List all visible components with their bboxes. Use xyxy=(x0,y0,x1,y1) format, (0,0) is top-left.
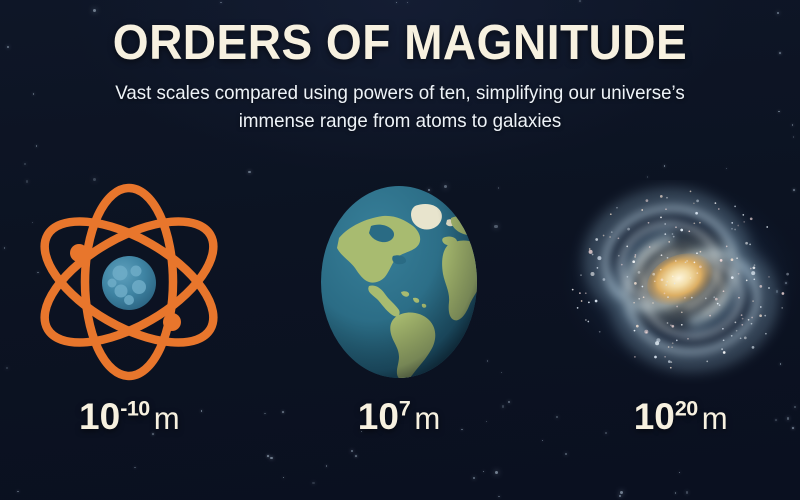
galaxy-star-icon xyxy=(688,230,690,232)
galaxy-star-icon xyxy=(579,292,581,294)
galaxy-star-icon xyxy=(588,250,592,254)
galaxy-star-icon xyxy=(693,262,695,264)
galaxy-star-icon xyxy=(634,282,637,285)
star-icon xyxy=(619,495,621,497)
header: ORDERS OF MAGNITUDE Vast scales compared… xyxy=(0,0,800,135)
galaxy-star-icon xyxy=(749,244,751,246)
atom-nucleus xyxy=(102,256,156,310)
galaxy-star-icon xyxy=(626,276,628,278)
galaxy-star-icon xyxy=(699,251,701,253)
galaxy-star-icon xyxy=(652,302,654,304)
galaxy-star-icon xyxy=(750,323,752,325)
galaxy-star-icon xyxy=(734,322,736,324)
galaxy-star-icon xyxy=(759,285,762,288)
star-icon xyxy=(675,492,677,494)
galaxy-star-icon xyxy=(765,333,767,335)
galaxy-star-icon xyxy=(689,191,691,193)
galaxy-star-icon xyxy=(666,197,668,199)
label-exponent: -10 xyxy=(120,397,150,421)
galaxy-star-icon xyxy=(664,223,666,225)
galaxy-star-icon xyxy=(713,296,715,298)
galaxy-star-icon xyxy=(689,277,691,279)
star-icon xyxy=(17,491,19,493)
galaxy-star-icon xyxy=(632,260,635,263)
galaxy-star-icon xyxy=(670,367,672,369)
galaxy-star-icon xyxy=(705,298,707,300)
galaxy-star-icon xyxy=(670,324,672,326)
galaxy-star-icon xyxy=(633,330,635,332)
galaxy-star-icon xyxy=(759,314,762,317)
label-unit: m xyxy=(154,401,180,436)
galaxy-star-icon xyxy=(599,331,601,333)
scale-item-atom: 10-10m xyxy=(0,178,263,478)
galaxy-star-icon xyxy=(602,278,605,281)
galaxy-star-icon xyxy=(652,273,655,276)
galaxy-star-icon xyxy=(668,360,671,363)
galaxy-star-icon xyxy=(741,324,743,326)
galaxy-star-icon xyxy=(752,266,755,269)
galaxy-star-icon xyxy=(722,290,724,292)
galaxy-star-icon xyxy=(684,261,686,263)
galaxy-star-icon xyxy=(572,289,574,291)
galaxy-star-icon xyxy=(726,246,728,248)
scale-item-earth: 107m xyxy=(266,178,533,478)
galaxy-star-icon xyxy=(663,293,665,295)
label-exponent: 20 xyxy=(675,397,698,421)
galaxy-star-icon xyxy=(641,209,643,211)
galaxy-art-container xyxy=(556,178,800,386)
galaxy-star-icon xyxy=(618,255,620,257)
galaxy-star-icon xyxy=(672,275,674,277)
galaxy-star-icon xyxy=(673,283,675,285)
galaxy-star-icon xyxy=(746,280,748,282)
star-icon xyxy=(726,168,728,170)
galaxy-star-icon xyxy=(588,302,590,304)
galaxy-star-icon xyxy=(735,330,737,332)
label-unit: m xyxy=(702,401,728,436)
galaxy-star-icon xyxy=(696,272,698,274)
galaxy-star-icon xyxy=(665,208,667,210)
galaxy-star-icon xyxy=(738,297,740,299)
galaxy-star-icon xyxy=(731,335,733,337)
galaxy-star-icon xyxy=(751,346,754,349)
galaxy-star-icon xyxy=(642,296,644,298)
galaxy-star-icon xyxy=(671,346,673,348)
infographic-canvas: ORDERS OF MAGNITUDE Vast scales compared… xyxy=(0,0,800,500)
star-icon xyxy=(498,496,500,498)
galaxy-star-icon xyxy=(585,319,587,321)
galaxy-star-icon xyxy=(696,252,698,254)
galaxy-star-icon xyxy=(695,212,698,215)
galaxy-star-icon xyxy=(781,292,784,295)
scale-label-galaxy: 1020m xyxy=(634,398,728,435)
galaxy-star-icon xyxy=(668,241,670,243)
star-icon xyxy=(248,171,250,173)
galaxy-star-icon xyxy=(745,242,748,245)
galaxy-star-icon xyxy=(580,274,582,276)
galaxy-star-icon xyxy=(744,337,747,340)
galaxy-star-icon xyxy=(751,317,753,319)
galaxy-star-icon xyxy=(638,298,640,300)
galaxy-star-icon xyxy=(654,356,657,359)
galaxy-star-icon xyxy=(660,217,662,219)
star-icon xyxy=(793,136,795,138)
label-unit: m xyxy=(414,401,440,436)
galaxy-star-icon xyxy=(741,318,743,320)
galaxy-star-icon xyxy=(750,268,752,270)
galaxy-star-icon xyxy=(764,315,766,317)
galaxy-star-icon xyxy=(752,300,754,302)
galaxy-star-icon xyxy=(736,257,738,259)
galaxy-star-icon xyxy=(719,259,722,262)
galaxy-star-icon xyxy=(594,300,597,303)
galaxy-star-icon xyxy=(664,356,666,358)
galaxy-star-icon xyxy=(676,340,678,342)
label-exponent: 7 xyxy=(399,397,410,421)
galaxy-star-icon xyxy=(722,328,724,330)
galaxy-star-icon xyxy=(626,246,628,248)
label-base: 10 xyxy=(358,396,399,437)
galaxy-star-icon xyxy=(597,256,601,260)
galaxy-star-icon xyxy=(768,287,770,289)
galaxy-star-icon xyxy=(723,351,726,354)
galaxy-star-icon xyxy=(634,254,636,256)
galaxy-star-icon xyxy=(718,304,720,306)
atom-illustration xyxy=(26,179,232,385)
galaxy-star-icon xyxy=(636,325,639,328)
galaxy-star-icon xyxy=(722,339,724,341)
galaxy-star-icon xyxy=(647,222,649,224)
galaxy-star-icon xyxy=(654,280,656,282)
galaxy-star-icon xyxy=(576,307,578,309)
galaxy-star-icon xyxy=(747,319,749,321)
galaxy-star-icon xyxy=(634,356,636,358)
galaxy-star-icon xyxy=(715,298,718,301)
scale-comparison-row: 10-10m xyxy=(0,178,800,478)
star-icon xyxy=(36,145,38,147)
galaxy-star-icon xyxy=(742,214,744,216)
galaxy-star-icon xyxy=(751,271,755,275)
galaxy-star-icon xyxy=(655,341,659,345)
spiral-galaxy-illustration xyxy=(556,180,800,384)
galaxy-star-icon xyxy=(676,306,678,308)
star-icon xyxy=(312,482,314,484)
galaxy-star-icon xyxy=(610,213,612,215)
galaxy-star-icon xyxy=(684,297,686,299)
label-base: 10 xyxy=(79,396,120,437)
galaxy-star-icon xyxy=(660,254,662,256)
galaxy-star-icon xyxy=(616,207,618,209)
galaxy-star-icon xyxy=(737,225,739,227)
galaxy-star-icon xyxy=(743,221,745,223)
galaxy-star-icon xyxy=(781,307,783,309)
scale-label-atom: 10-10m xyxy=(79,398,180,435)
galaxy-star-icon xyxy=(596,267,598,269)
galaxy-star-icon xyxy=(649,246,651,248)
galaxy-star-icon xyxy=(693,202,695,204)
galaxy-star-icon xyxy=(660,278,663,281)
galaxy-star-icon xyxy=(667,346,669,348)
galaxy-star-icon xyxy=(675,260,677,262)
galaxy-star-icon xyxy=(734,206,736,208)
page-subtitle: Vast scales compared using powers of ten… xyxy=(93,80,707,135)
scale-label-earth: 107m xyxy=(358,398,440,435)
galaxy-star-icon xyxy=(660,195,663,198)
galaxy-star-icon xyxy=(667,296,669,298)
galaxy-star-icon xyxy=(595,238,598,241)
galaxy-star-icon xyxy=(681,311,683,313)
galaxy-star-icon xyxy=(699,222,701,224)
atom-art-container xyxy=(26,178,232,386)
galaxy-star-icon xyxy=(672,342,674,344)
galaxy-star-icon xyxy=(718,208,720,210)
galaxy-star-icon xyxy=(591,254,593,256)
galaxy-star-icon xyxy=(670,361,672,363)
star-icon xyxy=(686,491,688,493)
galaxy-star-icon xyxy=(673,236,675,238)
galaxy-star-icon xyxy=(587,321,589,323)
galaxy-star-icon xyxy=(637,271,640,274)
earth-globe-illustration xyxy=(309,182,489,382)
galaxy-star-icon xyxy=(633,302,635,304)
galaxy-star-icon xyxy=(768,276,770,278)
galaxy-star-icon xyxy=(609,236,611,238)
star-icon xyxy=(664,165,666,167)
galaxy-star-icon xyxy=(786,273,789,276)
galaxy-star-icon xyxy=(585,292,587,294)
galaxy-star-icon xyxy=(660,269,662,271)
galaxy-star-icon xyxy=(664,233,666,235)
galaxy-star-icon xyxy=(731,228,733,230)
galaxy-star-icon xyxy=(737,273,739,275)
galaxy-star-icon xyxy=(580,300,582,302)
galaxy-star-icon xyxy=(589,248,591,250)
galaxy-star-icon xyxy=(691,297,693,299)
galaxy-star-icon xyxy=(665,284,667,286)
galaxy-star-icon xyxy=(666,257,668,259)
galaxy-star-icon xyxy=(621,264,623,266)
galaxy-star-icon xyxy=(721,348,723,350)
galaxy-star-icon xyxy=(714,202,716,204)
galaxy-star-icon xyxy=(699,265,702,268)
galaxy-star-icon xyxy=(709,315,711,317)
galaxy-star-icon xyxy=(730,258,733,261)
galaxy-star-icon xyxy=(731,276,734,279)
galaxy-star-icon xyxy=(731,222,733,224)
galaxy-star-icon xyxy=(753,264,755,266)
galaxy-star-icon xyxy=(760,306,762,308)
star-icon xyxy=(620,491,623,494)
galaxy-star-icon xyxy=(681,324,683,326)
galaxy-star-icon xyxy=(671,233,673,235)
galaxy-star-icon xyxy=(740,314,742,316)
galaxy-star-icon xyxy=(693,222,695,224)
galaxy-star-icon xyxy=(766,226,768,228)
galaxy-star-icon xyxy=(750,217,753,220)
galaxy-star-icon xyxy=(675,226,677,228)
galaxy-star-icon xyxy=(611,231,613,233)
galaxy-star-icon xyxy=(644,330,648,334)
galaxy-star-icon xyxy=(687,338,689,340)
galaxy-star-icon xyxy=(641,286,643,288)
galaxy-star-icon xyxy=(753,278,755,280)
earth-art-container xyxy=(309,178,489,386)
star-icon xyxy=(24,163,26,165)
galaxy-star-icon xyxy=(627,228,630,231)
galaxy-star-icon xyxy=(717,303,719,305)
galaxy-star-icon xyxy=(696,200,699,203)
galaxy-star-icon xyxy=(617,237,619,239)
earth-terminator-shading xyxy=(321,186,477,378)
galaxy-star-icon xyxy=(734,229,736,231)
galaxy-star-icon xyxy=(602,235,604,237)
galaxy-star-icon xyxy=(645,199,648,202)
galaxy-star-icon xyxy=(634,256,636,258)
page-title: ORDERS OF MAGNITUDE xyxy=(24,0,776,70)
label-base: 10 xyxy=(634,396,675,437)
galaxy-star-icon xyxy=(686,260,688,262)
galaxy-star-icon xyxy=(666,322,668,324)
earth-landmasses xyxy=(321,186,489,380)
scale-item-galaxy: 1020m xyxy=(547,178,800,478)
galaxy-star-icon xyxy=(671,325,674,328)
galaxy-star-icon xyxy=(706,361,708,363)
galaxy-star-icon xyxy=(680,229,683,232)
galaxy-star-icon xyxy=(666,281,668,283)
galaxy-star-icon xyxy=(739,337,741,339)
galaxy-star-icon xyxy=(590,272,594,276)
